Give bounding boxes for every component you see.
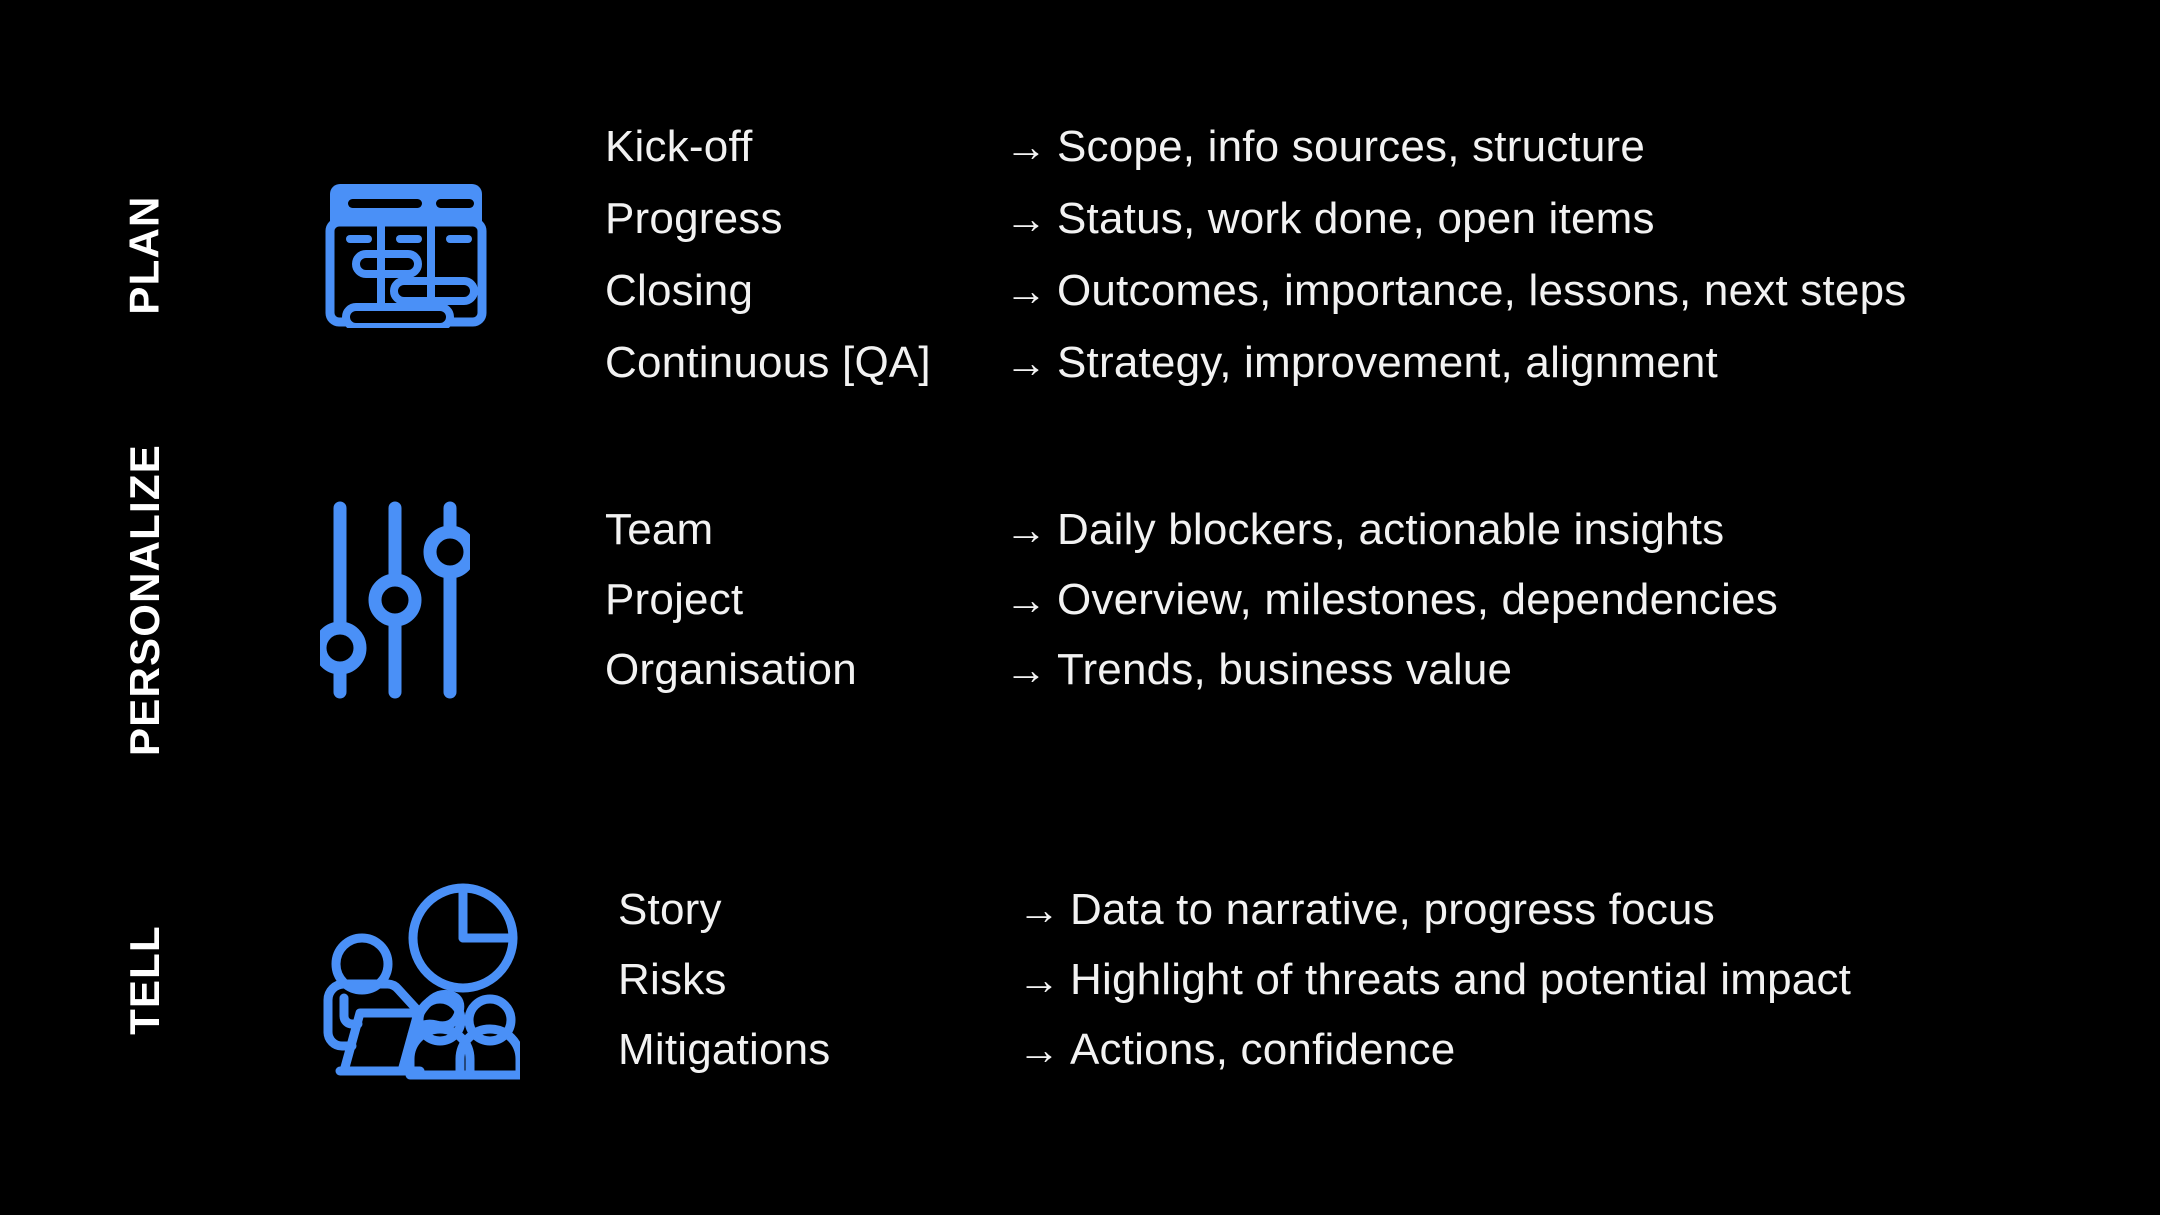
section-label-plan: PLAN	[0, 110, 290, 400]
rows-tell: Story → Data to narrative, progress focu…	[618, 820, 2160, 1140]
row-term: Closing	[605, 269, 1005, 313]
row-term: Continuous [QA]	[605, 341, 1005, 385]
list-item: Project → Overview, milestones, dependen…	[605, 578, 2160, 622]
list-item: Risks → Highlight of threats and potenti…	[618, 958, 2160, 1002]
row-term: Progress	[605, 197, 1005, 241]
row-desc: Trends, business value	[1057, 648, 1512, 692]
section-tell: TELL	[0, 820, 2160, 1140]
rows-plan: Kick-off → Scope, info sources, structur…	[605, 110, 2160, 400]
list-item: Story → Data to narrative, progress focu…	[618, 888, 2160, 932]
arrow-icon: →	[1005, 198, 1057, 240]
row-term: Project	[605, 578, 1005, 622]
list-item: Closing → Outcomes, importance, lessons,…	[605, 269, 2160, 313]
section-label-text: PLAN	[124, 195, 166, 314]
list-item: Organisation → Trends, business value	[605, 648, 2160, 692]
arrow-icon: →	[1005, 649, 1057, 691]
list-item: Team → Daily blockers, actionable insigh…	[605, 508, 2160, 552]
arrow-icon: →	[1018, 959, 1070, 1001]
section-label-text: TELL	[124, 925, 166, 1035]
section-label-personalize: PERSONALIZE	[0, 440, 290, 760]
row-desc: Actions, confidence	[1070, 1028, 1455, 1072]
arrow-icon: →	[1018, 889, 1070, 931]
rows-personalize: Team → Daily blockers, actionable insigh…	[605, 440, 2160, 760]
arrow-icon: →	[1005, 509, 1057, 551]
gantt-chart-icon	[320, 110, 550, 400]
row-desc: Overview, milestones, dependencies	[1057, 578, 1778, 622]
row-desc: Data to narrative, progress focus	[1070, 888, 1715, 932]
list-item: Progress → Status, work done, open items	[605, 197, 2160, 241]
arrow-icon: →	[1005, 342, 1057, 384]
row-desc: Status, work done, open items	[1057, 197, 1655, 241]
row-term: Risks	[618, 958, 1018, 1002]
row-desc: Highlight of threats and potential impac…	[1070, 958, 1851, 1002]
row-desc: Daily blockers, actionable insights	[1057, 508, 1724, 552]
row-term: Team	[605, 508, 1005, 552]
section-plan: PLAN	[0, 110, 2160, 400]
presentation-audience-icon	[320, 820, 550, 1140]
list-item: Continuous [QA] → Strategy, improvement,…	[605, 341, 2160, 385]
list-item: Kick-off → Scope, info sources, structur…	[605, 125, 2160, 169]
list-item: Mitigations → Actions, confidence	[618, 1028, 2160, 1072]
arrow-icon: →	[1018, 1029, 1070, 1071]
row-desc: Strategy, improvement, alignment	[1057, 341, 1718, 385]
arrow-icon: →	[1005, 270, 1057, 312]
row-desc: Outcomes, importance, lessons, next step…	[1057, 269, 1906, 313]
row-term: Organisation	[605, 648, 1005, 692]
row-desc: Scope, info sources, structure	[1057, 125, 1645, 169]
section-label-text: PERSONALIZE	[124, 444, 166, 756]
slide-root: PLAN	[0, 0, 2160, 1215]
section-label-tell: TELL	[0, 820, 290, 1140]
arrow-icon: →	[1005, 579, 1057, 621]
section-personalize: PERSONALIZE Team →	[0, 440, 2160, 760]
sliders-icon	[320, 440, 550, 760]
row-term: Kick-off	[605, 125, 1005, 169]
arrow-icon: →	[1005, 126, 1057, 168]
row-term: Mitigations	[618, 1028, 1018, 1072]
row-term: Story	[618, 888, 1018, 932]
